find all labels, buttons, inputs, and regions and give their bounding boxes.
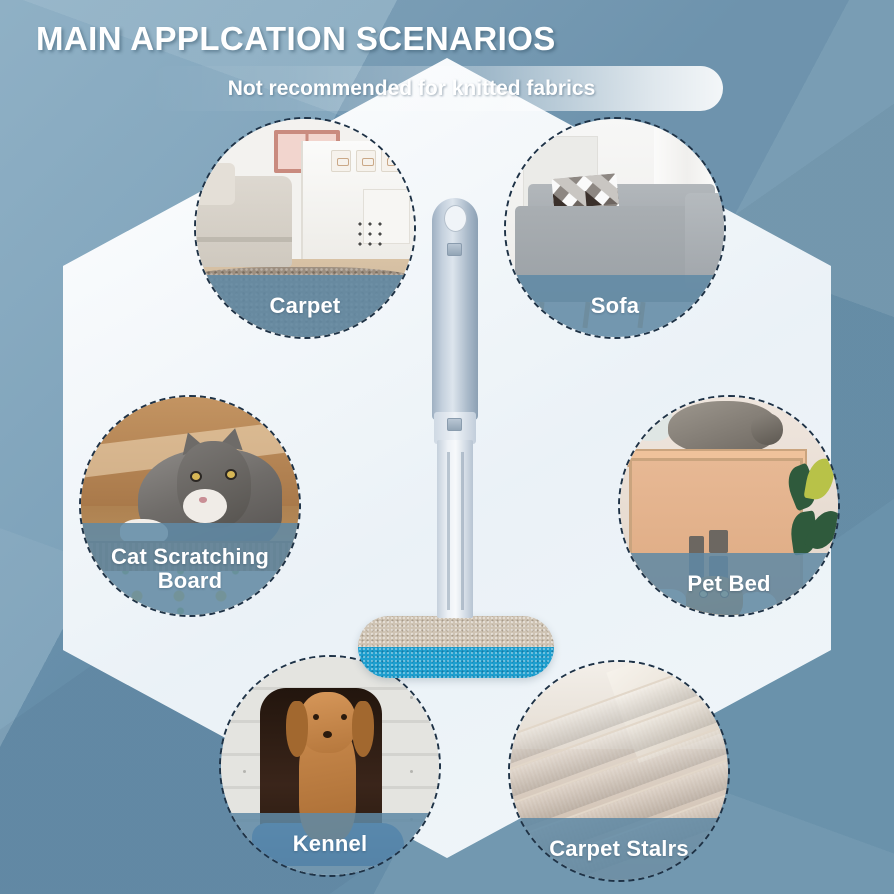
subtitle-text: Not recommended for knitted fabrics <box>148 66 723 111</box>
page-title: MAIN APPLCATION SCENARIOS <box>36 20 556 58</box>
infographic-canvas: MAIN APPLCATION SCENARIOS Not recommende… <box>0 0 894 894</box>
scenario-circle-kennel[interactable]: Kennel <box>219 655 441 877</box>
scenario-label-kennel: Kennel <box>221 813 439 875</box>
scenario-label-pet-bed: Pet Bed <box>620 553 838 615</box>
scenario-circle-cat-scratching-board[interactable]: Cat Scratching Board <box>79 395 301 617</box>
scenario-label-carpet: Carpet <box>196 275 414 337</box>
scenario-circle-carpet-stairs[interactable]: Carpet Stalrs <box>508 660 730 882</box>
scenario-circle-sofa[interactable]: Sofa <box>504 117 726 339</box>
scenario-label-cat-scratching-board: Cat Scratching Board <box>81 523 299 615</box>
scenario-label-carpet-stairs: Carpet Stalrs <box>510 818 728 880</box>
scenario-circle-carpet[interactable]: Carpet <box>194 117 416 339</box>
scenario-label-sofa: Sofa <box>506 275 724 337</box>
scenario-circle-pet-bed[interactable]: Pet Bed <box>618 395 840 617</box>
